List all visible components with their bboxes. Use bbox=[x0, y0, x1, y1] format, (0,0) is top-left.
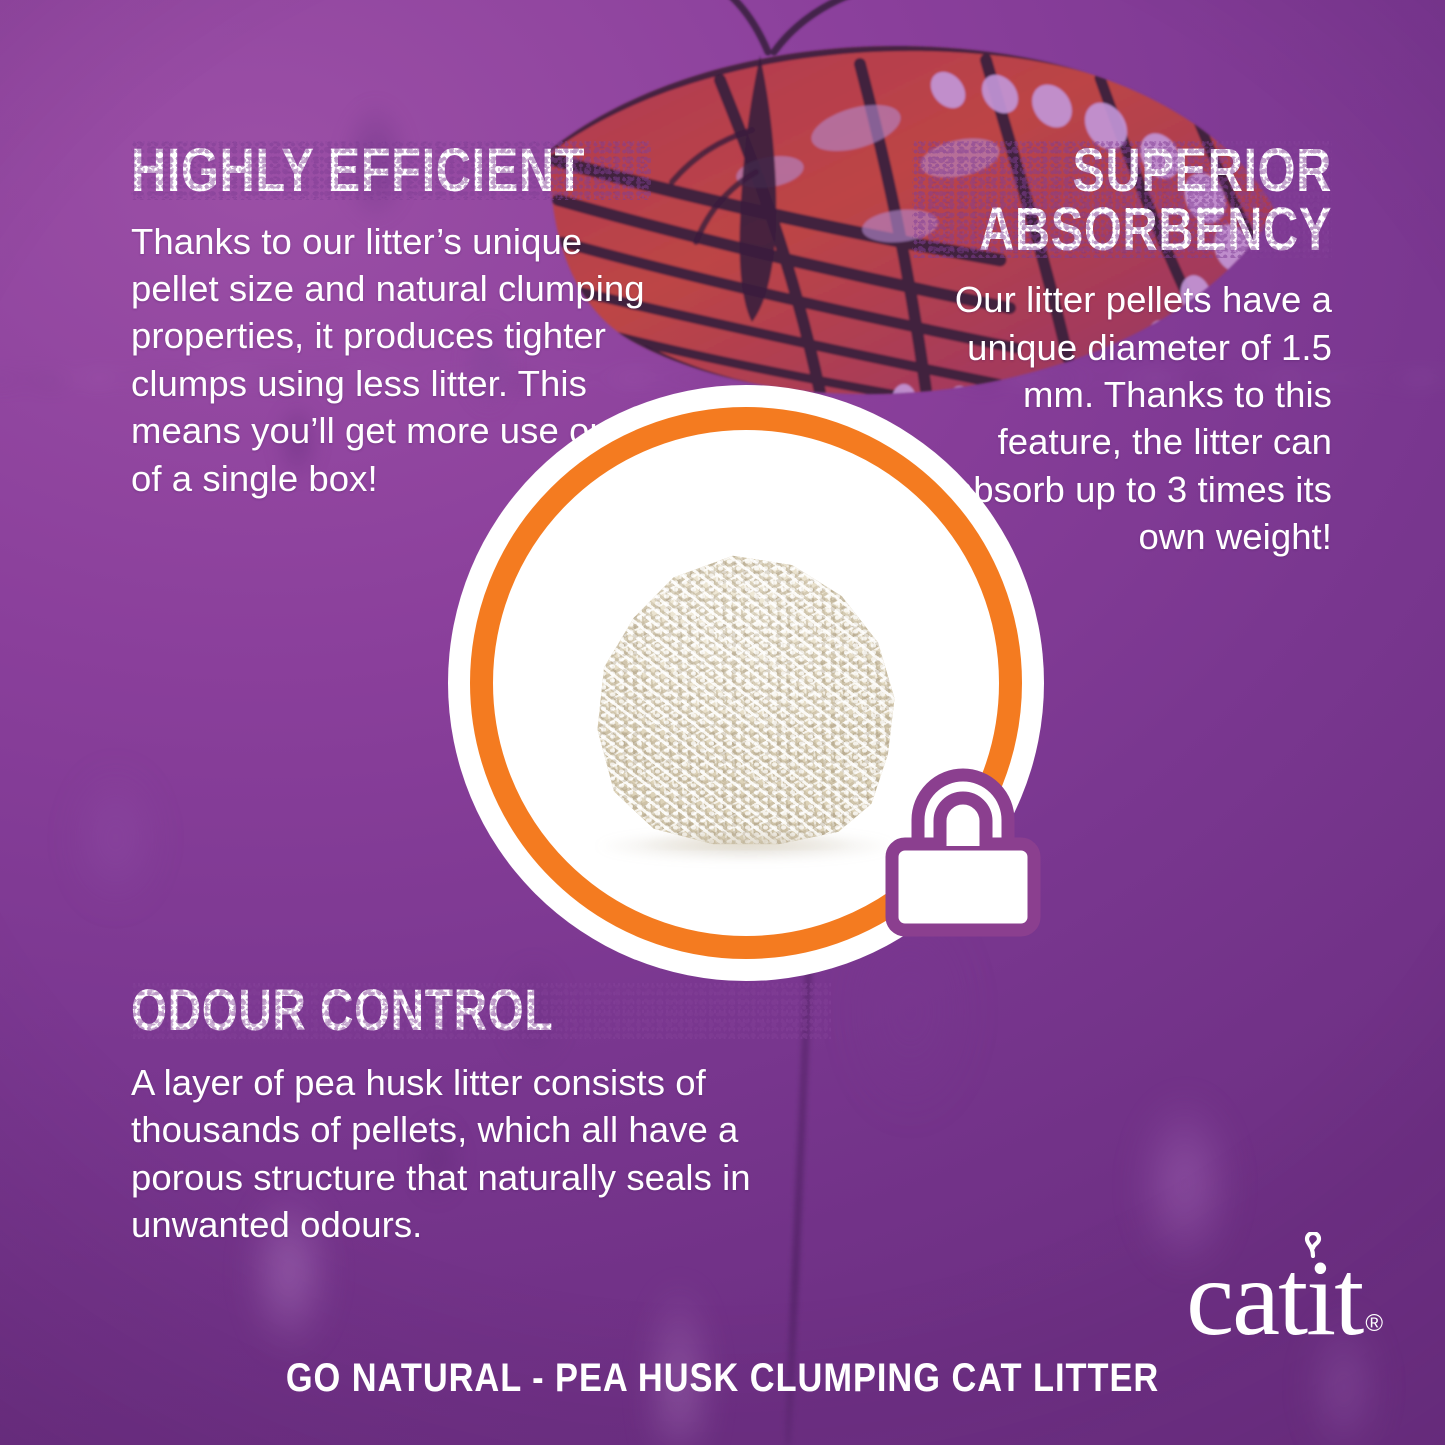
logo-wordmark: catit bbox=[1186, 1249, 1362, 1348]
pellet-speckle bbox=[581, 537, 911, 847]
heading-odour-control: ODOUR CONTROL bbox=[131, 983, 831, 1039]
catit-logo: catit® bbox=[1053, 1236, 1383, 1348]
heading-highly-efficient: HIGHLY EFFICIENT bbox=[131, 141, 651, 200]
heading-superior-absorbency: SUPERIOR ABSORBENCY bbox=[912, 141, 1332, 258]
pellet-pile bbox=[581, 537, 911, 847]
footer-tagline: GO NATURAL - PEA HUSK CLUMPING CAT LITTE… bbox=[101, 1356, 1344, 1401]
body-odour-control: A layer of pea husk litter consists of t… bbox=[131, 1059, 831, 1249]
registered-trademark-symbol: ® bbox=[1365, 1310, 1383, 1338]
litter-pellets-image bbox=[581, 537, 911, 847]
logo-swash-icon bbox=[1300, 1232, 1326, 1258]
heading-grunge-texture bbox=[131, 141, 651, 200]
product-infographic: HIGHLY EFFICIENT Thanks to our litter’s … bbox=[0, 0, 1445, 1445]
heading-grunge-texture bbox=[912, 141, 1332, 258]
pile-reflection bbox=[596, 817, 896, 851]
padlock-icon bbox=[878, 764, 1048, 940]
feature-odour-control: ODOUR CONTROL A layer of pea husk litter… bbox=[131, 983, 831, 1248]
heading-grunge-texture bbox=[131, 983, 831, 1039]
